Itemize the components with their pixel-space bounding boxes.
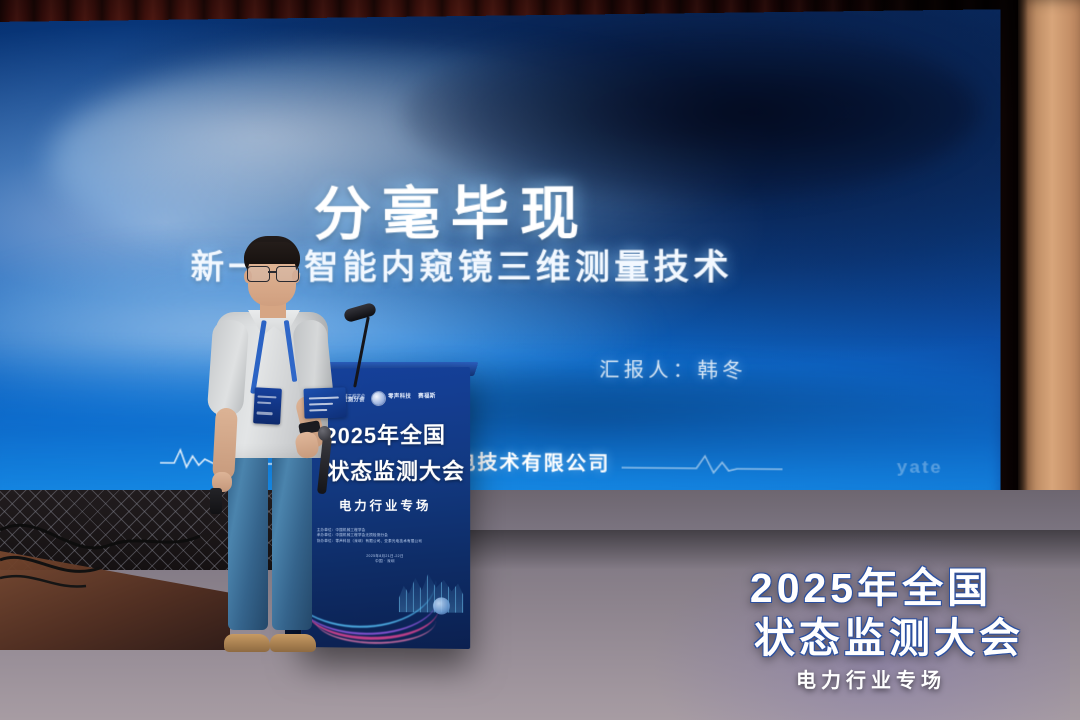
speaker-figure (196, 236, 346, 648)
speaker-hair-front (244, 242, 300, 264)
mic-capsule (343, 302, 377, 323)
microphone-flag-cube (303, 387, 346, 418)
shoe-right (270, 634, 316, 652)
slide-subtitle: 新一代智能内窥镜三维测量技术 (0, 239, 1000, 290)
right-wall-strip (1018, 0, 1080, 560)
speaker-legs (226, 452, 318, 648)
leg-right (272, 452, 312, 630)
forearm-left (212, 407, 238, 480)
podium-logo-2-text: 赛福斯 (418, 395, 435, 401)
mic-stem (353, 316, 370, 387)
podium-logo-1-text: 零声科技 (388, 395, 411, 401)
lens-right (276, 266, 299, 282)
podium-logo-1: 零声科技 (372, 391, 411, 404)
heartbeat-waveform-icon-right (621, 449, 782, 478)
moon-icon (433, 597, 450, 614)
screen-brandmark: yate (897, 457, 943, 478)
conference-photo-scene: 分毫毕现 新一代智能内窥镜三维测量技术 汇报人：韩冬 深圳市亚泰光电技术有限公司… (0, 0, 1080, 720)
event-watermark: 2025年全国 状态监测大会 电力行业专场 (706, 564, 1036, 694)
watermark-line3: 电力行业专场 (706, 670, 1036, 694)
glasses-icon (246, 266, 298, 281)
shoe-left (224, 634, 270, 652)
handheld-microphone-head (318, 426, 331, 441)
leg-left (228, 452, 268, 630)
glasses-bridge (268, 271, 276, 273)
led-presentation-screen: 分毫毕现 新一代智能内窥镜三维测量技术 汇报人：韩冬 深圳市亚泰光电技术有限公司… (0, 9, 1000, 514)
name-badge (253, 387, 282, 424)
presenter-clicker (210, 488, 222, 514)
circle-logo-icon (372, 391, 385, 404)
sleeve-left (207, 319, 250, 417)
lens-left (247, 266, 270, 282)
gooseneck-microphone (338, 300, 392, 382)
watermark-line2: 状态监测大会 (706, 614, 1036, 662)
podium-logo-2: 赛福斯 (418, 395, 435, 401)
watermark-line1: 2025年全国 (706, 564, 1036, 612)
